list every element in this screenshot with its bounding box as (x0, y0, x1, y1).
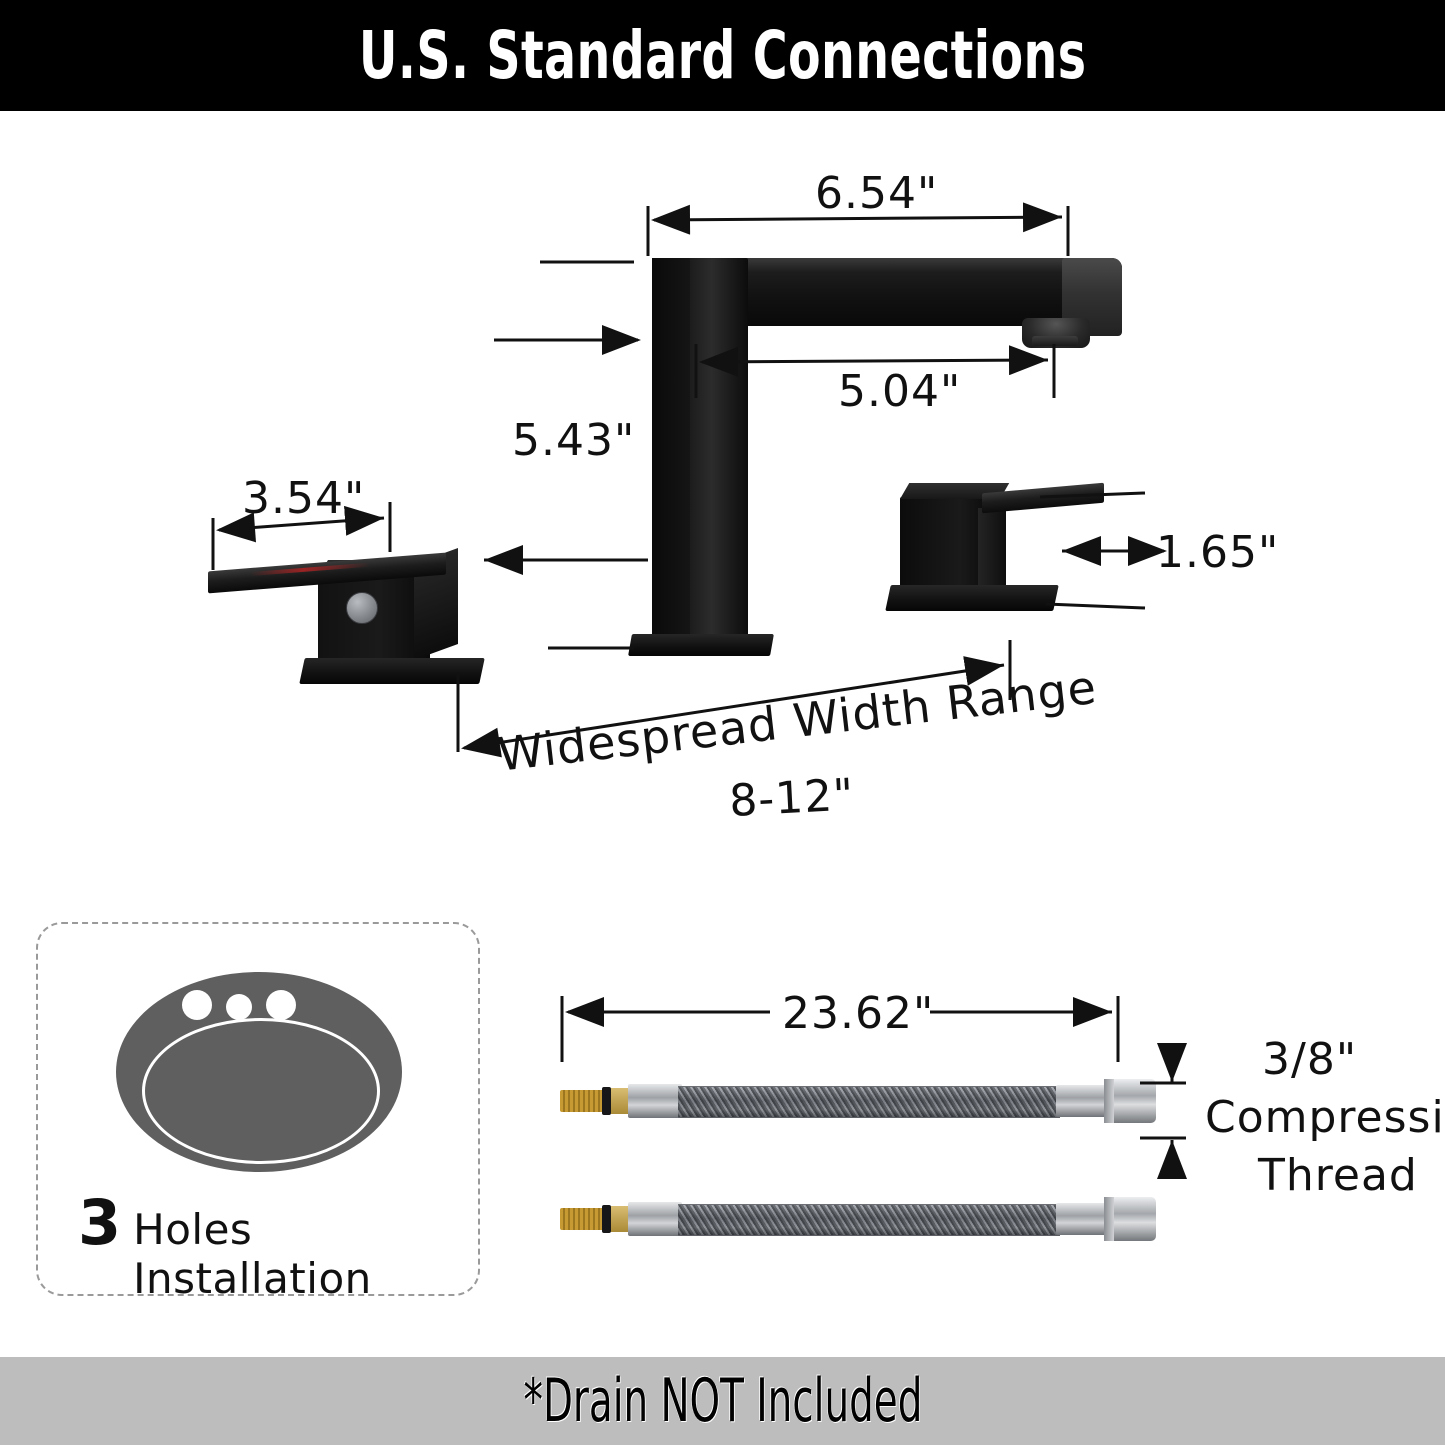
right-handle-inner-face (978, 508, 1006, 590)
hose-1-braided-body (678, 1086, 1060, 1118)
aerator-ring (1032, 336, 1078, 346)
hose-2-brass-collar (611, 1206, 629, 1232)
spout-column (652, 258, 748, 640)
header-banner: U.S. Standard Connections (0, 0, 1445, 111)
left-handle-accent-stripe (250, 563, 370, 576)
footer-note: *Drain NOT Included (523, 1366, 922, 1436)
aerator-outlet (1022, 318, 1090, 348)
spout-column-face (652, 258, 690, 640)
label-thread-type-line1: Compression (1205, 1092, 1445, 1143)
supply-hose-1 (556, 1078, 1166, 1124)
supply-hose-2 (556, 1196, 1166, 1242)
ext-line-165-bottom (1046, 604, 1145, 608)
hose-1-brass-collar (611, 1088, 629, 1114)
dimension-label-hose-length: 23.62" (782, 988, 934, 1039)
label-thread-type-line2: Thread (1258, 1150, 1418, 1201)
hose-1-compression-nut (1104, 1079, 1156, 1123)
left-handle-base-plate (299, 658, 485, 684)
hose-2-braided-body (678, 1204, 1060, 1236)
dimension-label-spread-value: 8-12" (728, 769, 856, 826)
installation-hole-count: 3 (78, 1192, 121, 1254)
dimension-label-spout-reach: 5.04" (838, 366, 961, 417)
dimension-label-spread-range: Widespread Width Range (495, 660, 1099, 782)
hose-2-nut-edge (1104, 1197, 1114, 1241)
sink-basin-icon (142, 1018, 380, 1164)
footer-banner: *Drain NOT Included (0, 1357, 1445, 1445)
mounting-hole-center-icon (226, 994, 252, 1020)
installation-callout-box: 3 Holes Installation (36, 922, 480, 1296)
header-title: U.S. Standard Connections (359, 17, 1086, 94)
spec-sheet-page: U.S. Standard Connections (0, 0, 1445, 1445)
hose-2-right-ferrule (1056, 1203, 1108, 1235)
installation-label: 3 Holes Installation (78, 1192, 458, 1303)
left-handle-body (318, 574, 430, 664)
sink-icon (116, 972, 402, 1172)
hose-2-compression-nut (1104, 1197, 1156, 1241)
hose-2-brass-thread (560, 1208, 604, 1230)
hose-2-left-ferrule (628, 1202, 682, 1236)
mounting-hole-right-icon (266, 990, 296, 1020)
hose-1-nut-edge (1104, 1079, 1114, 1123)
mounting-hole-left-icon (182, 990, 212, 1020)
dimension-label-handle-lever: 3.54" (242, 473, 365, 524)
spout-base-plate (628, 634, 774, 656)
installation-label-text: Holes Installation (133, 1205, 458, 1303)
left-handle-screw-icon (346, 592, 378, 624)
label-thread-size: 3/8" (1262, 1034, 1357, 1085)
right-handle-base-plate (885, 585, 1059, 611)
dimension-label-handle-height: 1.65" (1156, 527, 1279, 578)
hose-1-oring (602, 1087, 611, 1115)
dimension-label-spout-height: 5.43" (512, 415, 635, 466)
hose-2-oring (602, 1205, 611, 1233)
hose-1-right-ferrule (1056, 1085, 1108, 1117)
hose-1-left-ferrule (628, 1084, 682, 1118)
dimension-label-spout-width: 6.54" (815, 168, 938, 219)
dim-arrow-504 (702, 360, 1048, 362)
hose-1-brass-thread (560, 1090, 604, 1112)
